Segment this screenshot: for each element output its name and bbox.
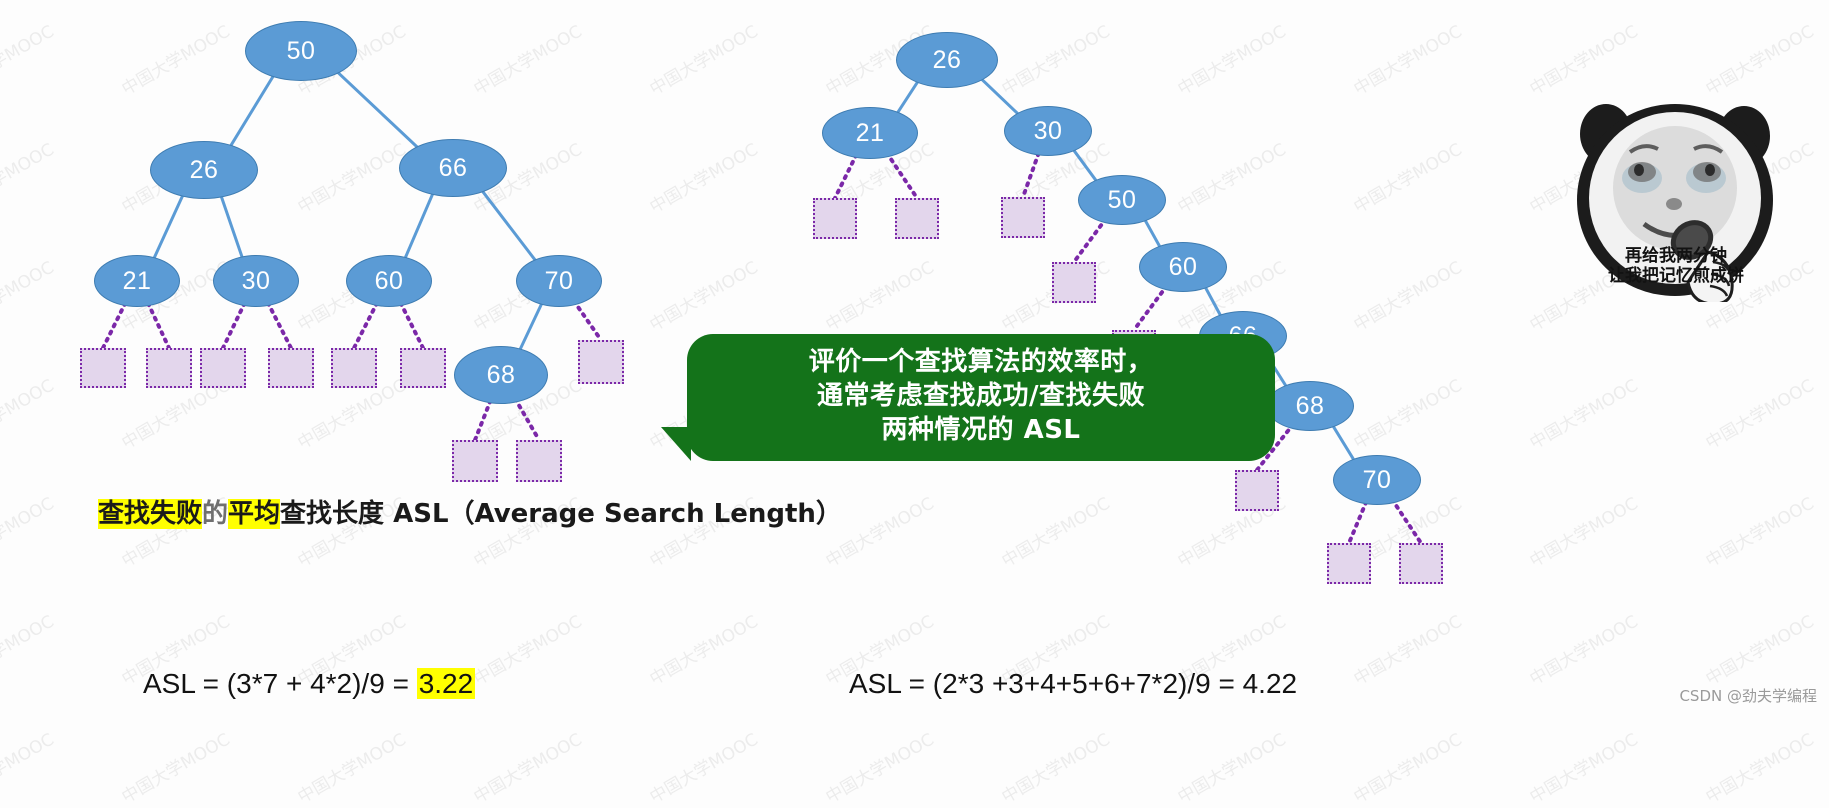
- left-formula-expression: ASL = (3*7 + 4*2)/9 =: [143, 668, 417, 699]
- watermark-tile: 中国大学MOOC: [1348, 725, 1466, 807]
- meme-caption-line-1: 再给我两分钟: [1568, 246, 1784, 266]
- tree-node-68: 68: [454, 346, 548, 404]
- tree-edge-dotted: [354, 303, 377, 348]
- watermark-tile: 中国大学MOOC: [1348, 253, 1466, 335]
- tree-node-60: 60: [1139, 242, 1227, 292]
- watermark-tile: 中国大学MOOC: [1524, 607, 1642, 689]
- csdn-watermark: CSDN @劲夫学编程: [1679, 685, 1817, 706]
- tree-edge-dotted: [1349, 502, 1366, 543]
- tree-node-21: 21: [94, 255, 180, 307]
- tree-edge: [480, 187, 538, 263]
- failure-leaf-node: [578, 340, 624, 384]
- watermark-tile: 中国大学MOOC: [1700, 725, 1818, 807]
- tree-node-26: 26: [150, 141, 258, 199]
- watermark-tile: 中国大学MOOC: [1348, 371, 1466, 453]
- failure-leaf-node: [1327, 543, 1371, 584]
- callout-bubble: 评价一个查找算法的效率时， 通常考虑查找成功/查找失败 两种情况的 ASL: [687, 334, 1275, 461]
- watermark-tile: 中国大学MOOC: [644, 253, 762, 335]
- tree-edge: [519, 301, 543, 352]
- tree-edge: [977, 75, 1022, 118]
- right-formula-expression: ASL = (2*3 +3+4+5+6+7*2)/9 = 4.22: [849, 668, 1297, 699]
- tree-node-50: 50: [1078, 175, 1166, 225]
- tree-edge-dotted: [148, 303, 169, 348]
- caption-tail-text: 查找长度 ASL（Average Search Length）: [280, 499, 842, 529]
- failure-leaf-node: [1001, 197, 1045, 238]
- watermark-tile: 中国大学MOOC: [0, 489, 58, 571]
- watermark-tile: 中国大学MOOC: [1524, 725, 1642, 807]
- watermark-tile: 中国大学MOOC: [0, 725, 58, 807]
- failure-leaf-node: [80, 348, 126, 388]
- watermark-tile: 中国大学MOOC: [468, 725, 586, 807]
- tree-edge: [333, 68, 422, 152]
- watermark-tile: 中国大学MOOC: [116, 725, 234, 807]
- left-asl-formula: ASL = (3*7 + 4*2)/9 = 3.22: [143, 668, 475, 700]
- tree-node-26: 26: [896, 32, 998, 88]
- meme-caption-line-2: 让我把记忆煎成饼: [1568, 266, 1784, 286]
- watermark-tile: 中国大学MOOC: [0, 371, 58, 453]
- caption-highlight-average: 平均: [228, 499, 280, 529]
- tree-edge-dotted: [475, 401, 491, 440]
- failure-leaf-node: [268, 348, 314, 388]
- watermark-tile: 中国大学MOOC: [644, 17, 762, 99]
- watermark-tile: 中国大学MOOC: [116, 17, 234, 99]
- failure-leaf-node: [1399, 543, 1443, 584]
- tree-edge-dotted: [887, 153, 917, 198]
- watermark-tile: 中国大学MOOC: [1348, 135, 1466, 217]
- callout-line-3: 两种情况的 ASL: [711, 414, 1251, 448]
- failure-leaf-node: [452, 440, 498, 482]
- tree-edge-dotted: [103, 303, 125, 348]
- tree-edge: [1071, 147, 1099, 185]
- tree-edge: [220, 194, 242, 259]
- watermark-tile: 中国大学MOOC: [996, 725, 1114, 807]
- watermark-tile: 中国大学MOOC: [468, 17, 586, 99]
- tree-edge-dotted: [515, 399, 539, 440]
- tree-node-21: 21: [822, 107, 918, 159]
- tree-edge: [229, 72, 276, 149]
- watermark-tile: 中国大学MOOC: [1700, 607, 1818, 689]
- watermark-tile: 中国大学MOOC: [1348, 607, 1466, 689]
- tree-edge-dotted: [1392, 499, 1421, 543]
- watermark-tile: 中国大学MOOC: [644, 607, 762, 689]
- left-formula-result: 3.22: [417, 668, 476, 699]
- watermark-tile: 中国大学MOOC: [1700, 17, 1818, 99]
- watermark-tile: 中国大学MOOC: [644, 135, 762, 217]
- failure-leaf-node: [200, 348, 246, 388]
- asl-caption: 查找失败的平均查找长度 ASL（Average Search Length）: [98, 493, 842, 530]
- failure-leaf-node: [331, 348, 377, 388]
- caption-de: 的: [202, 499, 228, 529]
- watermark-tile: 中国大学MOOC: [0, 253, 58, 335]
- tree-node-68: 68: [1266, 381, 1354, 431]
- callout-tail: [661, 427, 691, 461]
- failure-leaf-node: [1052, 262, 1096, 303]
- watermark-tile: 中国大学MOOC: [1524, 489, 1642, 571]
- right-asl-formula: ASL = (2*3 +3+4+5+6+7*2)/9 = 4.22: [849, 668, 1297, 700]
- watermark-tile: 中国大学MOOC: [820, 253, 938, 335]
- failure-leaf-node: [516, 440, 562, 482]
- watermark-tile: 中国大学MOOC: [1524, 17, 1642, 99]
- watermark-tile: 中国大学MOOC: [292, 135, 410, 217]
- meme-caption: 再给我两分钟 让我把记忆煎成饼: [1568, 246, 1784, 286]
- callout-line-2: 通常考虑查找成功/查找失败: [711, 380, 1251, 414]
- tree-node-30: 30: [1004, 106, 1092, 156]
- watermark-tile: 中国大学MOOC: [1524, 371, 1642, 453]
- tree-edge-dotted: [1134, 286, 1167, 330]
- failure-leaf-node: [895, 198, 939, 239]
- tree-node-30: 30: [213, 255, 299, 307]
- tree-edge: [895, 78, 920, 117]
- callout-line-1: 评价一个查找算法的效率时，: [711, 346, 1251, 380]
- watermark-tile: 中国大学MOOC: [1172, 135, 1290, 217]
- failure-leaf-node: [400, 348, 446, 388]
- tree-edge: [404, 191, 434, 260]
- tree-edge-dotted: [1023, 153, 1039, 197]
- watermark-tile: 中国大学MOOC: [820, 725, 938, 807]
- slide-canvas: 中国大学MOOC中国大学MOOC中国大学MOOC中国大学MOOC中国大学MOOC…: [0, 0, 1829, 712]
- failure-leaf-node: [146, 348, 192, 388]
- tree-edge: [153, 193, 184, 261]
- watermark-tile: 中国大学MOOC: [1172, 725, 1290, 807]
- tree-edge-dotted: [835, 155, 856, 198]
- tree-edge-dotted: [223, 303, 245, 348]
- tree-edge-dotted: [1074, 219, 1106, 262]
- watermark-tile: 中国大学MOOC: [0, 17, 58, 99]
- watermark-tile: 中国大学MOOC: [0, 135, 58, 217]
- tree-edge-dotted: [268, 303, 291, 348]
- tree-node-50: 50: [245, 21, 357, 81]
- tree-edge-dotted: [574, 301, 601, 340]
- tree-edge-dotted: [401, 303, 423, 348]
- watermark-tile: 中国大学MOOC: [1172, 17, 1290, 99]
- failure-leaf-node: [813, 198, 857, 239]
- failure-leaf-node: [1235, 470, 1279, 511]
- watermark-tile: 中国大学MOOC: [996, 17, 1114, 99]
- caption-highlight-fail: 查找失败: [98, 499, 202, 529]
- watermark-tile: 中国大学MOOC: [0, 607, 58, 689]
- tree-edge: [1204, 284, 1222, 318]
- tree-node-70: 70: [516, 255, 602, 307]
- watermark-tile: 中国大学MOOC: [644, 725, 762, 807]
- tree-edge: [1331, 423, 1355, 463]
- tree-node-60: 60: [346, 255, 432, 307]
- watermark-tile: 中国大学MOOC: [1700, 489, 1818, 571]
- watermark-tile: 中国大学MOOC: [1348, 17, 1466, 99]
- tree-node-70: 70: [1333, 455, 1421, 505]
- watermark-tile: 中国大学MOOC: [468, 607, 586, 689]
- tree-node-66: 66: [399, 139, 507, 197]
- watermark-tile: 中国大学MOOC: [292, 725, 410, 807]
- watermark-tile: 中国大学MOOC: [1700, 371, 1818, 453]
- watermark-tile: 中国大学MOOC: [996, 489, 1114, 571]
